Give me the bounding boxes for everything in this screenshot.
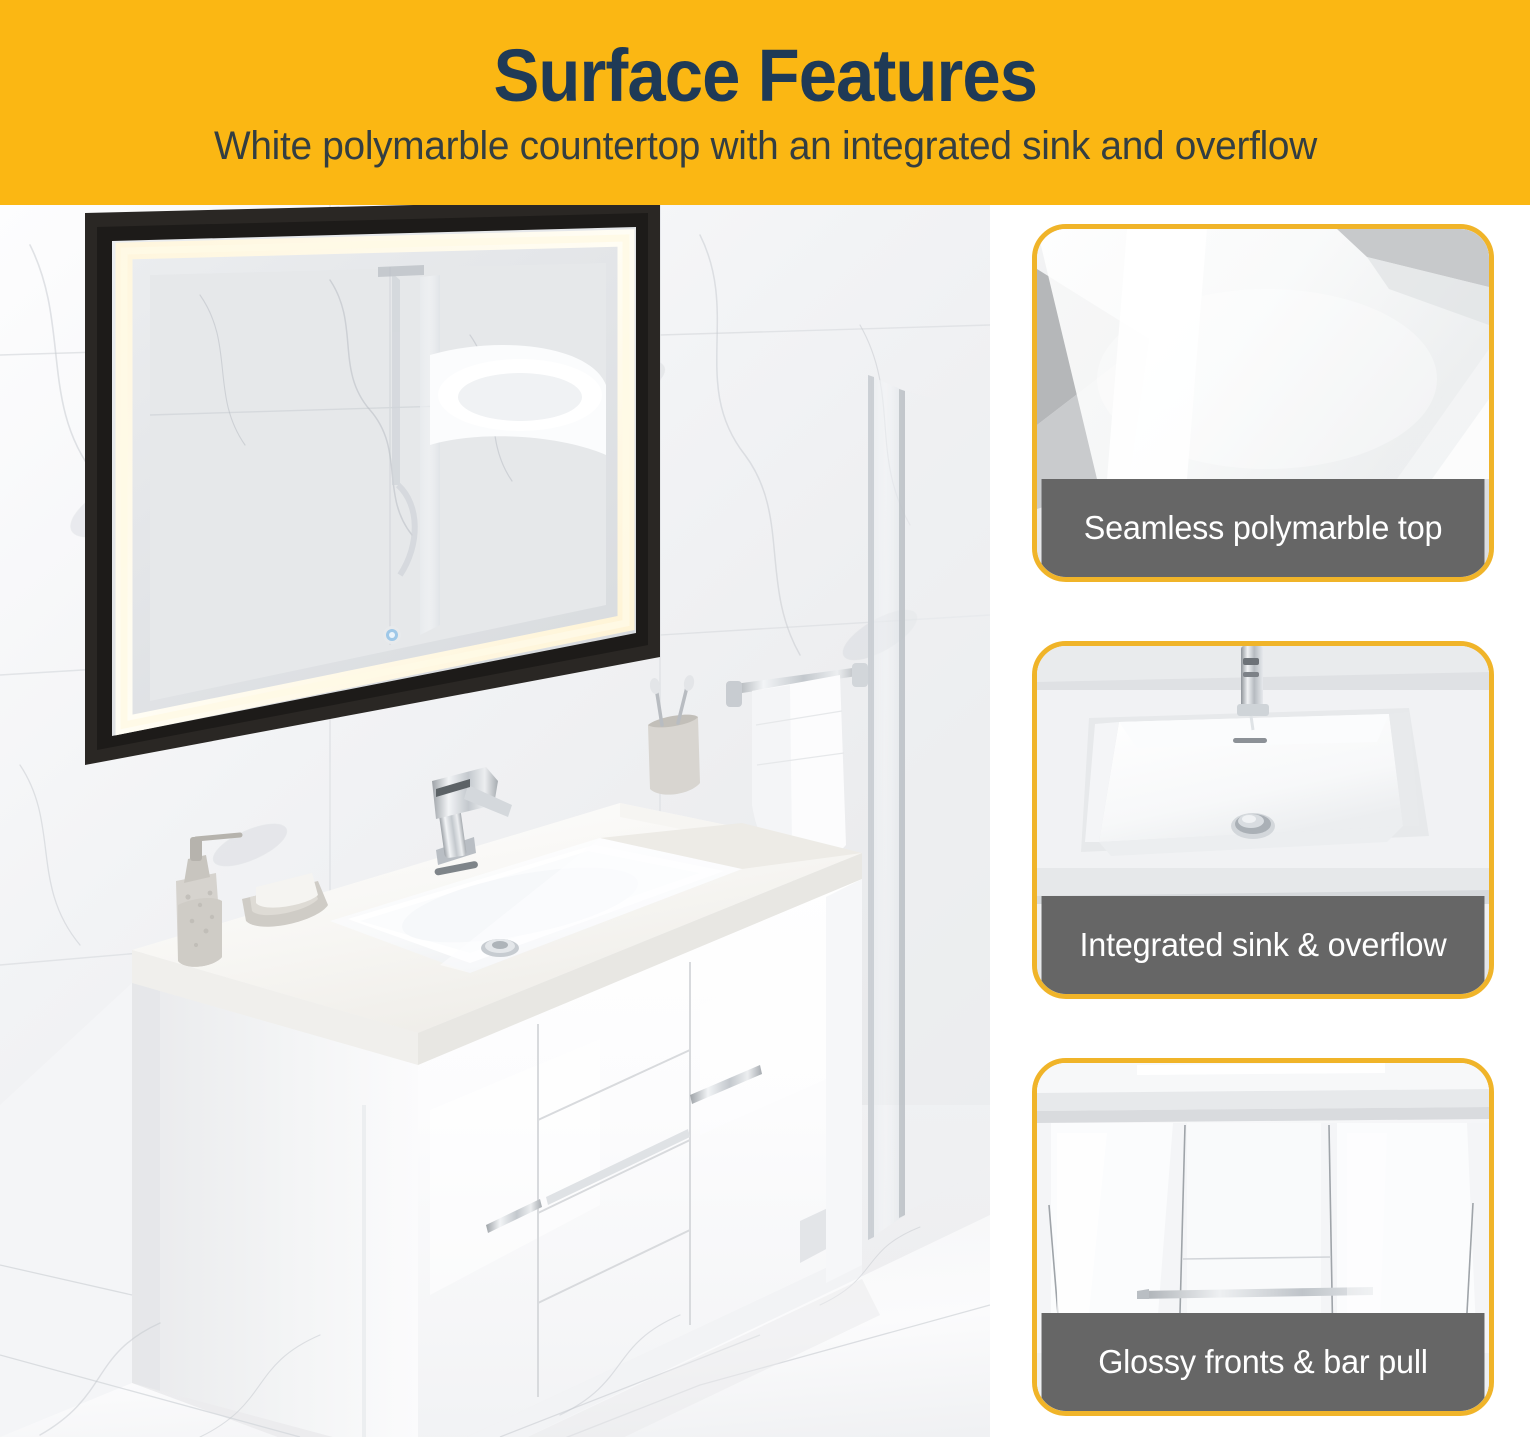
page-title: Surface Features xyxy=(493,38,1037,113)
card-caption-seamless-top: Seamless polymarble top xyxy=(1042,479,1485,577)
feature-card-glossy-fronts[interactable]: Glossy fronts & bar pull xyxy=(1032,1058,1494,1416)
header-banner: Surface Features White polymarble counte… xyxy=(0,0,1530,205)
feature-card-integrated-sink[interactable]: Integrated sink & overflow xyxy=(1032,641,1494,999)
hero-illustration xyxy=(0,205,990,1437)
feature-card-seamless-top[interactable]: Seamless polymarble top xyxy=(1032,224,1494,582)
feature-card-column: Seamless polymarble top xyxy=(1032,224,1494,1416)
page-subtitle: White polymarble countertop with an inte… xyxy=(214,125,1317,167)
card-caption-integrated-sink: Integrated sink & overflow xyxy=(1042,896,1485,994)
product-feature-page: Surface Features White polymarble counte… xyxy=(0,0,1530,1437)
card-caption-glossy-fronts: Glossy fronts & bar pull xyxy=(1042,1313,1485,1411)
hero-bathroom-photo xyxy=(0,205,990,1437)
shower-glass-panel xyxy=(868,375,990,1240)
